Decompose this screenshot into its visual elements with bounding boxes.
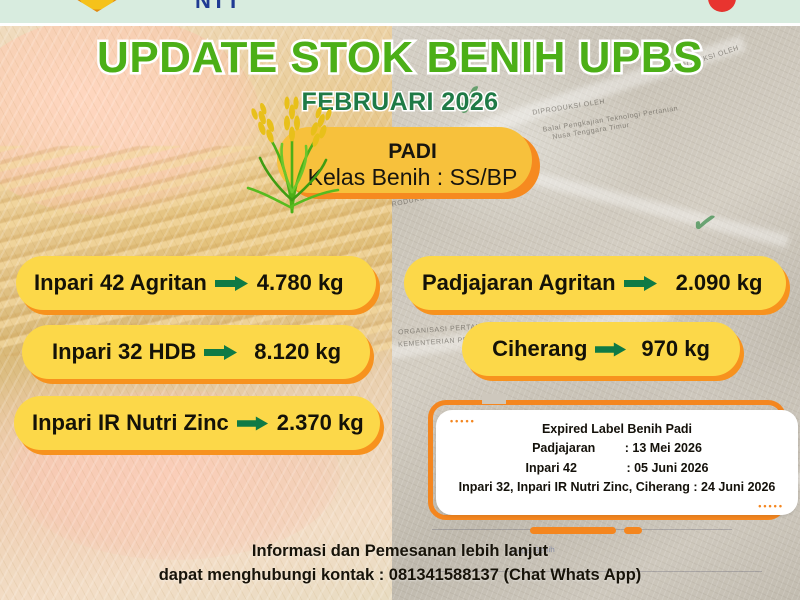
stock-item-value: 8.120 kg xyxy=(254,339,341,365)
stock-item-name: Padjajaran Agritan xyxy=(422,270,616,296)
stock-item-value: 2.090 kg xyxy=(676,270,763,296)
arrow-right-icon xyxy=(204,344,238,361)
band-divider xyxy=(0,23,800,26)
expired-row-label: Inpari 42 xyxy=(526,461,577,475)
stock-item-name: Inpari IR Nutri Zinc xyxy=(32,410,229,436)
stock-item-inpari-42-agritan: Inpari 42 Agritan 4.780 kg xyxy=(16,256,376,310)
footer-contact: Informasi dan Pemesanan lebih lanjut dap… xyxy=(0,540,800,588)
category-name: PADI xyxy=(388,141,437,163)
stock-item-name: Inpari 42 Agritan xyxy=(34,270,207,296)
stock-item-inpari-ir-nutri-zinc: Inpari IR Nutri Zinc 2.370 kg xyxy=(14,396,380,450)
expired-row-date: 05 Juni 2026 xyxy=(634,461,708,475)
stock-item-name: Inpari 32 HDB xyxy=(52,339,196,365)
ntt-logo-text: NTT xyxy=(195,0,241,14)
expired-row-padjajaran: Padjajaran : 13 Mei 2026 xyxy=(448,439,786,458)
decor-dots-icon: ••••• xyxy=(450,416,476,426)
decor-dots-icon: ••••• xyxy=(758,501,784,511)
decor-bar xyxy=(530,527,616,534)
arrow-right-icon xyxy=(624,275,658,292)
provincial-emblem-icon xyxy=(75,0,119,12)
stock-item-name: Ciherang xyxy=(492,336,587,362)
expired-row-date: 13 Mei 2026 xyxy=(632,441,702,455)
page-title: UPDATE STOK BENIH UPBS xyxy=(0,33,800,83)
footer-line-2: dapat menghubungi kontak : 081341588137 … xyxy=(0,564,800,588)
page-subtitle: FEBRUARI 2026 xyxy=(0,88,800,117)
stock-item-value: 2.370 kg xyxy=(277,410,364,436)
arrow-right-icon xyxy=(215,275,249,292)
expired-row-combined: Inpari 32, Inpari IR Nutri Zinc, Ciheran… xyxy=(448,478,786,497)
stock-item-padjajaran-agritan: Padjajaran Agritan 2.090 kg xyxy=(404,256,786,310)
rice-plant-icon xyxy=(232,96,352,214)
arrow-right-icon xyxy=(595,341,627,358)
arrow-right-icon xyxy=(237,415,269,432)
expired-row-inpari-42: Inpari 42 : 05 Juni 2026 xyxy=(448,459,786,478)
poster-root: ✓ ✓ DIPRODUKSI OLEH Balai Pengkajian Tek… xyxy=(0,0,800,600)
footer-line-1: Informasi dan Pemesanan lebih lanjut xyxy=(0,540,800,564)
expired-label-box: ••••• ••••• Expired Label Benih Padi Pad… xyxy=(436,410,798,515)
expired-row-sep: : xyxy=(626,461,634,475)
stock-item-inpari-32-hdb: Inpari 32 HDB 8.120 kg xyxy=(22,325,370,379)
expired-box-title: Expired Label Benih Padi xyxy=(448,420,786,439)
stock-item-ciherang: Ciherang 970 kg xyxy=(462,322,740,376)
top-logo-band: NTT xyxy=(0,0,800,23)
stock-item-value: 4.780 kg xyxy=(257,270,344,296)
stock-item-value: 970 kg xyxy=(641,336,710,362)
expired-box-frame-notch xyxy=(482,394,506,404)
expired-row-label: Padjajaran xyxy=(532,441,595,455)
decor-bar-small xyxy=(624,527,642,534)
red-circle-emblem-icon xyxy=(708,0,736,12)
